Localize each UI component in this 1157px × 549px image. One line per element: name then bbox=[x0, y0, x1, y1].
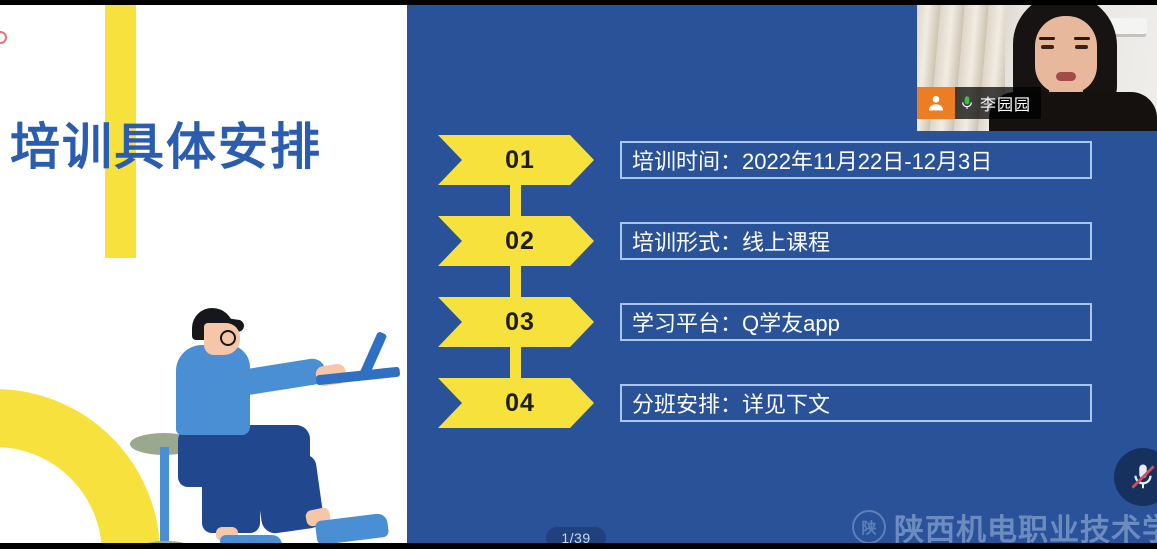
recording-badge: 录制中 bbox=[0, 24, 72, 51]
step-text-box-03: 学习平台：Q学友app bbox=[620, 303, 1092, 341]
step-text-column: 培训时间：2022年11月22日-12月3日 培训形式：线上课程 学习平台：Q学… bbox=[620, 141, 1094, 426]
step-number-02: 02 bbox=[497, 227, 535, 256]
participant-face bbox=[1035, 16, 1097, 94]
letterbox-bar-top bbox=[0, 0, 1157, 5]
person-with-laptop-illustration bbox=[120, 305, 407, 543]
step-text-02: 培训形式：线上课程 bbox=[622, 225, 830, 257]
step-number-03: 03 bbox=[497, 308, 535, 337]
participant-name-chip: 李园园 bbox=[955, 87, 1041, 119]
recording-label: 录制中 bbox=[12, 27, 60, 48]
meeting-screen: 培训具体安排 bbox=[0, 0, 1157, 549]
page-indicator: 1/39 bbox=[546, 527, 606, 543]
slide-title: 培训具体安排 bbox=[10, 122, 400, 172]
microphone-muted-icon bbox=[1128, 462, 1157, 492]
step-text-03: 学习平台：Q学友app bbox=[622, 306, 840, 338]
step-number-04: 04 bbox=[497, 389, 535, 418]
slide-left-panel: 培训具体安排 bbox=[0, 5, 407, 543]
participant-eye-right bbox=[1075, 45, 1088, 49]
step-text-box-01: 培训时间：2022年11月22日-12月3日 bbox=[620, 141, 1092, 179]
participant-mouth bbox=[1056, 72, 1076, 81]
school-seal-icon: 陕 bbox=[852, 510, 886, 543]
microphone-active-icon bbox=[959, 94, 975, 112]
step-chevron-04: 04 bbox=[438, 378, 594, 428]
step-text-box-04: 分班安排：详见下文 bbox=[620, 384, 1092, 422]
participant-brow-left bbox=[1039, 37, 1055, 40]
participant-name-label: 李园园 bbox=[980, 91, 1031, 115]
letterbox-bar-bottom bbox=[0, 543, 1157, 549]
participant-eye-left bbox=[1041, 45, 1054, 49]
step-chevron-03: 03 bbox=[438, 297, 594, 347]
self-video-tile[interactable]: 李园园 bbox=[917, 0, 1157, 131]
step-chevron-01: 01 bbox=[438, 135, 594, 185]
step-chevron-02: 02 bbox=[438, 216, 594, 266]
person-back-shin-shape bbox=[202, 461, 260, 533]
step-text-box-02: 培训形式：线上课程 bbox=[620, 222, 1092, 260]
institution-watermark: 陕 陕西机电职业技术学院 bbox=[852, 505, 1157, 543]
participant-brow-right bbox=[1074, 37, 1090, 40]
step-text-04: 分班安排：详见下文 bbox=[622, 387, 830, 419]
participant-name-bar: 李园园 bbox=[917, 87, 1041, 119]
step-text-01: 培训时间：2022年11月22日-12月3日 bbox=[622, 144, 992, 176]
step-connector-line bbox=[510, 153, 521, 415]
person-back-shoe-shape bbox=[220, 535, 282, 543]
stool-leg-shape bbox=[160, 447, 169, 543]
person-glasses-icon bbox=[220, 330, 236, 346]
step-number-01: 01 bbox=[497, 146, 535, 175]
watermark-text: 陕西机电职业技术学院 bbox=[894, 505, 1157, 543]
step-number-column: 01 02 03 04 bbox=[438, 135, 598, 430]
person-icon[interactable] bbox=[917, 87, 955, 119]
record-dot-icon bbox=[0, 31, 7, 44]
